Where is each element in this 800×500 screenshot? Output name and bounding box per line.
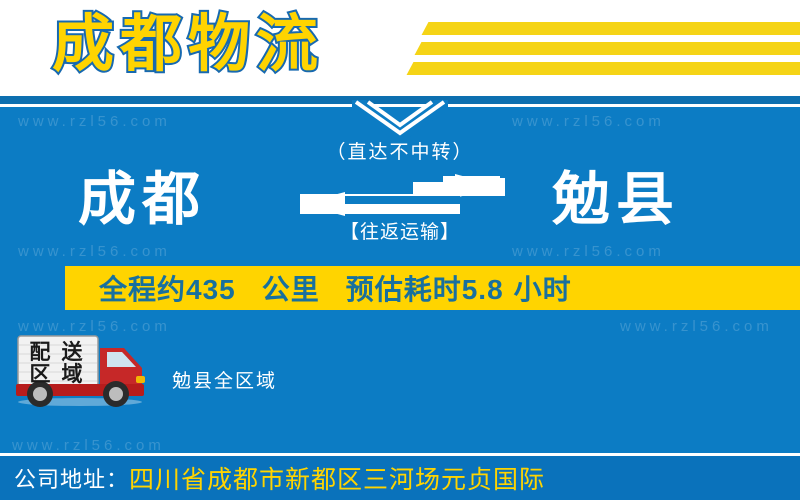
chevron-down-icon <box>352 100 448 142</box>
truck-icon: 配 送 区 域 <box>8 332 156 408</box>
delivery-area-label: 勉县全区域 <box>172 366 277 393</box>
route-note-roundtrip: 【往返运输】 <box>280 222 520 244</box>
logistics-poster: 成都物流 成都 （直达不中转） <box>0 0 800 500</box>
distance-value: 全程约435 <box>99 268 236 308</box>
route-note-direct: （直达不中转） <box>280 142 520 164</box>
truck-char-2: 送 <box>56 342 88 364</box>
address-value: 四川省成都市新都区三河场元贞国际 <box>129 460 545 496</box>
header-band: 成都物流 <box>0 0 800 96</box>
distance-band: 全程约435 公里 预估耗时5.8 小时 <box>65 266 800 310</box>
origin-city: 成都 <box>78 150 206 250</box>
decor-stripe-2 <box>415 42 800 55</box>
route-row: 成都 （直达不中转） 【往返运输】 勉县 <box>0 150 800 260</box>
duration-unit: 小时 <box>514 268 572 308</box>
address-label: 公司地址： <box>14 462 129 494</box>
page-title: 成都物流 <box>52 2 324 88</box>
watermark: www.rzl56.com <box>18 113 171 130</box>
watermark: www.rzl56.com <box>12 437 165 454</box>
decor-stripe-1 <box>422 22 800 35</box>
duration-value: 预估耗时5.8 <box>346 268 504 308</box>
address-bar: 公司地址： 四川省成都市新都区三河场元贞国际 <box>0 456 800 500</box>
truck-char-3: 区 <box>24 364 56 386</box>
destination-city: 勉县 <box>552 150 680 250</box>
watermark: www.rzl56.com <box>512 113 665 130</box>
distance-unit: 公里 <box>262 268 320 308</box>
truck-char-4: 域 <box>56 364 88 386</box>
bidirectional-arrow-icon <box>295 174 505 218</box>
decor-stripe-3 <box>407 62 800 75</box>
delivery-row: 配 送 区 域 勉县全区域 <box>0 330 800 410</box>
truck-char-1: 配 <box>24 342 56 364</box>
truck-box-label: 配 送 区 域 <box>24 342 88 386</box>
route-middle: （直达不中转） 【往返运输】 <box>280 142 520 244</box>
